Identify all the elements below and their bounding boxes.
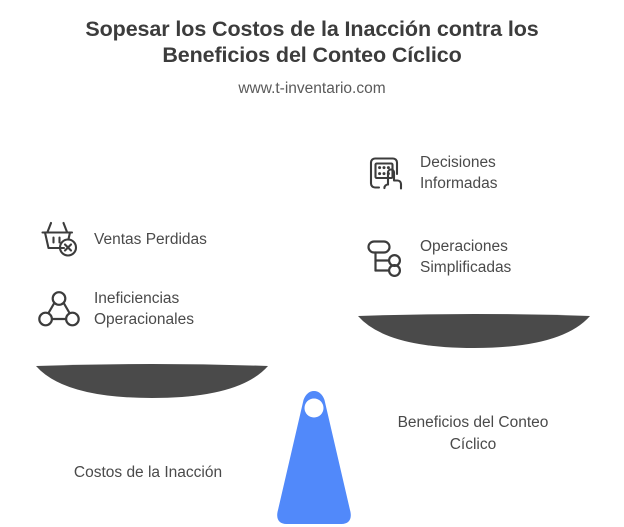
balance-caption-left: Costos de la Inacción [26,462,270,484]
shopping-basket-remove-icon [36,216,82,262]
feature-label: Ineficiencias Operacionales [94,288,194,330]
feature-label: Operaciones Simplificadas [420,236,511,278]
feature-item-decisiones-informadas: Decisiones Informadas [362,150,498,196]
page-title: Sopesar los Costos de la Inacción contra… [0,16,624,68]
balance-caption-right: Beneficios del Conteo Cíclico [352,412,594,456]
flowchart-branch-icon [362,234,408,280]
balance-pan-right [352,310,596,354]
feature-label: Ventas Perdidas [94,229,207,250]
infographic-canvas: Sopesar los Costos de la Inacción contra… [0,0,624,527]
balance-pan-left [30,360,274,404]
network-nodes-icon [36,286,82,332]
feature-item-operaciones-simplificadas: Operaciones Simplificadas [362,234,511,280]
balance-fulcrum-weight [262,388,366,527]
feature-item-ventas-perdidas: Ventas Perdidas [36,216,207,262]
feature-item-ineficiencias-operacionales: Ineficiencias Operacionales [36,286,194,332]
calculator-hand-icon [362,150,408,196]
feature-label: Decisiones Informadas [420,152,498,194]
page-subtitle-website: www.t-inventario.com [0,79,624,99]
header: Sopesar los Costos de la Inacción contra… [0,16,624,99]
